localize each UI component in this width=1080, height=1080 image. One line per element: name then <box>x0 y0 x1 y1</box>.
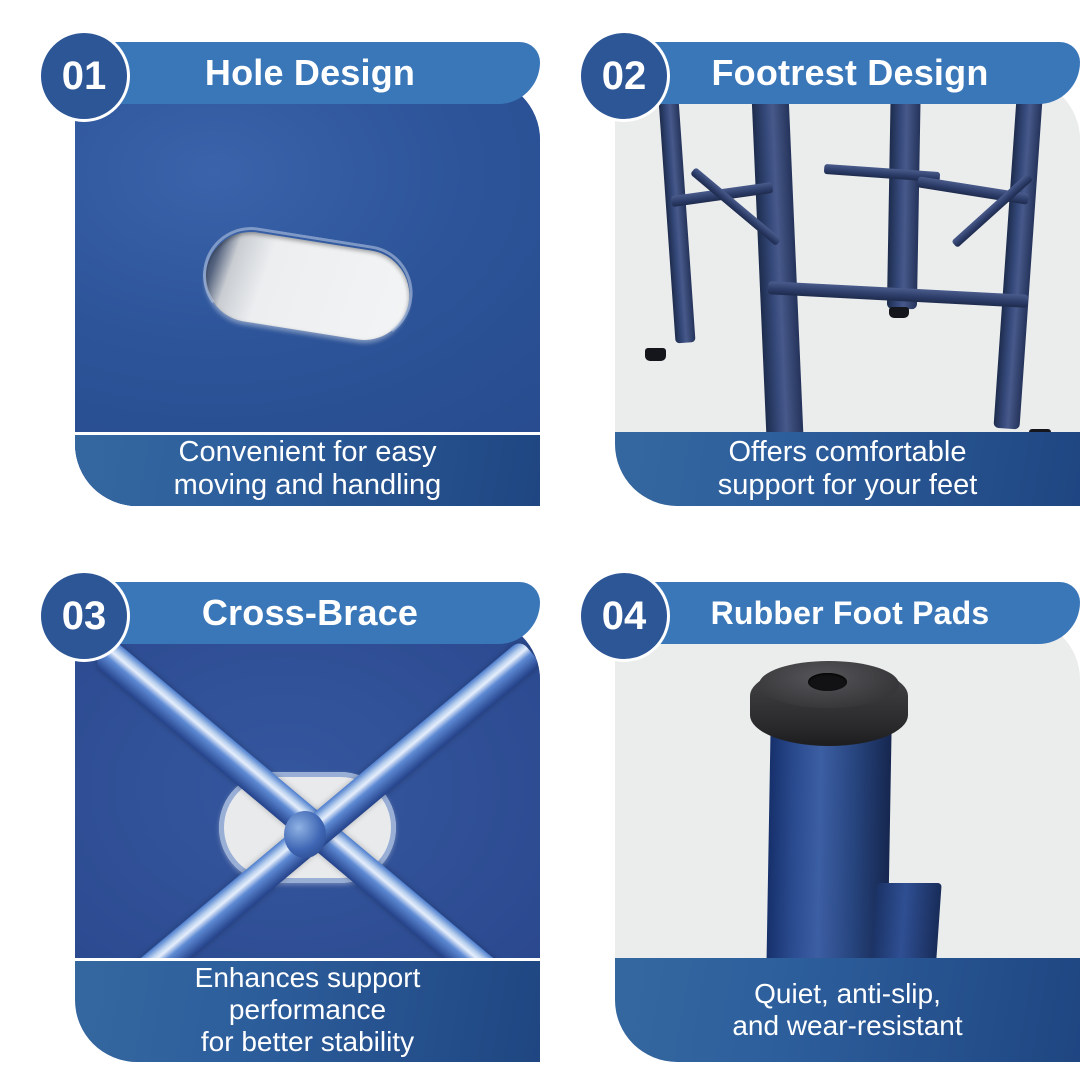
rubber-foot-cap-center <box>889 307 909 318</box>
card-03-caption-line3: for better stability <box>201 1026 414 1057</box>
caption-divider <box>75 958 540 961</box>
feature-grid: Hole Design 01 Convenient for easy movin… <box>0 0 1080 1080</box>
caption-divider <box>75 432 540 435</box>
card-01-number-badge: 01 <box>38 30 130 122</box>
card-04-caption: Quiet, anti-slip, and wear-resistant <box>615 958 1080 1062</box>
card-01-caption: Convenient for easy moving and handling <box>75 432 540 506</box>
card-04-caption-line2: and wear-resistant <box>732 1010 962 1041</box>
card-01-caption-line1: Convenient for easy <box>179 436 437 468</box>
card-03-caption: Enhances support performance for better … <box>75 958 540 1062</box>
card-04-title: Rubber Foot Pads <box>640 582 1060 644</box>
card-03-number-badge: 03 <box>38 570 130 662</box>
card-04-caption-line1: Quiet, anti-slip, <box>754 978 941 1009</box>
card-04-number-badge: 04 <box>578 570 670 662</box>
feature-card-04[interactable]: Rubber Foot Pads 04 Quiet, anti-slip, an… <box>540 540 1080 1080</box>
card-02-number-badge: 02 <box>578 30 670 122</box>
feature-card-03[interactable]: Cross-Brace 03 Enhances support performa… <box>0 540 540 1080</box>
card-02-caption-line1: Offers comfortable <box>728 436 966 468</box>
rubber-foot-cap-left <box>645 348 666 362</box>
card-03-caption-line1: Enhances support <box>195 962 421 993</box>
feature-card-02[interactable]: Footrest Design 02 Offers comfortable su… <box>540 0 1080 540</box>
feature-card-01[interactable]: Hole Design 01 Convenient for easy movin… <box>0 0 540 540</box>
card-01-caption-line2: moving and handling <box>174 469 442 501</box>
card-02-caption: Offers comfortable support for your feet <box>615 432 1080 506</box>
card-01-title: Hole Design <box>100 42 520 104</box>
card-02-title: Footrest Design <box>640 42 1060 104</box>
rubber-pad-center-hole-icon <box>808 673 848 691</box>
weld-joint <box>284 811 326 858</box>
card-03-caption-line2: performance <box>229 994 386 1025</box>
card-02-caption-line2: support for your feet <box>718 469 978 501</box>
card-03-title: Cross-Brace <box>100 582 520 644</box>
stool-leg-rear-right <box>887 78 921 309</box>
